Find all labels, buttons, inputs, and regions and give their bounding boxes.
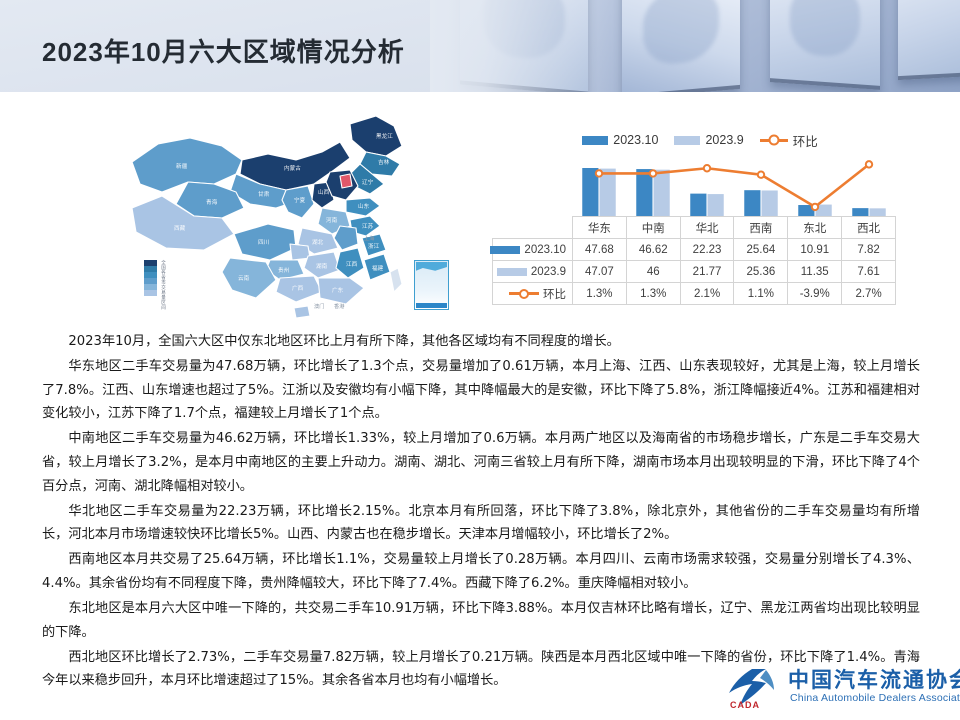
row-swatch-2023-10 <box>490 246 520 254</box>
map-label: 云南 <box>238 274 250 282</box>
map-label: 四川 <box>258 239 269 246</box>
paragraph: 华东地区二手车交易量为47.68万辆，环比增长了1.3个点，交易量增加了0.61… <box>42 355 920 426</box>
trend-marker <box>704 165 710 171</box>
table-cell: -3.9% <box>788 283 842 305</box>
cube-world-map-icon <box>643 0 719 67</box>
legend-line-huanbi <box>760 139 788 142</box>
trend-marker <box>812 204 818 210</box>
map-label: 贵州 <box>278 266 289 274</box>
table-row-2023-10: 2023.10 47.68 46.62 22.23 25.64 10.91 7.… <box>493 239 896 261</box>
logo-chinese-name: 中国汽车流通协会 <box>788 664 960 694</box>
region-bar-chart: 2023.10 2023.9 环比 华东 中南 华北 <box>492 128 896 326</box>
decorative-cube <box>898 0 960 80</box>
table-col-header: 西北 <box>842 217 896 239</box>
map-legend-scale <box>144 260 157 296</box>
article-body: 2023年10月，全国六大区中仅东北地区环比上月有所下降，其他各区域均有不同程度… <box>42 330 920 694</box>
legend-item-2023-10: 2023.10 <box>582 133 658 147</box>
south-china-sea-inset <box>414 260 449 310</box>
table-cell: 1.3% <box>626 283 680 305</box>
table-cell: 47.07 <box>573 261 627 283</box>
legend-swatch-2023-9 <box>674 136 700 145</box>
logo-english-name: China Automobile Dealers Association <box>790 692 960 704</box>
map-legend-caption: 全国各省市交易量区间 <box>161 260 166 310</box>
chart-plot-area <box>572 154 896 216</box>
map-label: 青海 <box>206 198 218 206</box>
map-label: 黑龙江 <box>376 132 393 140</box>
row-label-huanbi: 环比 <box>543 286 566 302</box>
bar-2023-9 <box>708 194 724 216</box>
map-label: 西藏 <box>174 224 186 232</box>
table-cell: 22.23 <box>680 239 734 261</box>
paragraph: 2023年10月，全国六大区中仅东北地区环比上月有所下降，其他各区域均有不同程度… <box>42 330 920 354</box>
bar-2023-9 <box>654 170 670 216</box>
table-header-row: 华东 中南 华北 西南 东北 西北 <box>493 217 896 239</box>
map-label: 浙江 <box>368 242 380 250</box>
page-title: 2023年10月六大区域情况分析 <box>42 32 405 69</box>
row-label-2023-9: 2023.9 <box>531 266 566 278</box>
table-cell: 2.7% <box>842 283 896 305</box>
legend-swatch-2023-10 <box>582 136 608 145</box>
trend-marker <box>596 170 602 176</box>
map-label: 吉林 <box>378 158 390 166</box>
map-label: 新疆 <box>176 162 188 170</box>
bar-2023-10 <box>744 190 760 216</box>
map-label: 福建 <box>372 264 384 272</box>
table-row-2023-9: 2023.9 47.07 46 21.77 25.36 11.35 7.61 <box>493 261 896 283</box>
map-label: 辽宁 <box>362 178 374 186</box>
row-label-2023-10: 2023.10 <box>524 244 566 256</box>
page-header: 2023年10月六大区域情况分析 <box>0 0 960 92</box>
map-label: 甘肃 <box>258 190 270 198</box>
table-col-header: 东北 <box>788 217 842 239</box>
table-cell: 1.1% <box>734 283 788 305</box>
table-row-header-2023-10: 2023.10 <box>493 239 573 261</box>
bar-2023-10 <box>690 194 706 216</box>
trend-marker <box>866 161 872 167</box>
map-legend: 全国各省市交易量区间 <box>144 260 166 310</box>
table-cell: 11.35 <box>788 261 842 283</box>
organization-logo: CADA 中国汽车流通协会 China Automobile Dealers A… <box>722 662 958 718</box>
map-label: 江西 <box>346 261 358 268</box>
legend-label-huanbi: 环比 <box>793 131 818 150</box>
table-row-huanbi: 环比 1.3% 1.3% 2.1% 1.1% -3.9% 2.7% <box>493 283 896 305</box>
chart-plot-svg <box>572 154 896 216</box>
bar-group <box>582 168 885 216</box>
map-label: 广东 <box>332 286 344 294</box>
map-label: 江苏 <box>362 222 374 230</box>
bar-2023-9 <box>762 190 778 216</box>
table-cell: 7.82 <box>842 239 896 261</box>
province-taiwan <box>390 268 402 292</box>
inset-landmass <box>416 262 447 273</box>
table-cell: 2.1% <box>680 283 734 305</box>
map-label: 湖南 <box>316 262 328 270</box>
table-col-header: 华东 <box>573 217 627 239</box>
paragraph: 中南地区二手车交易量为46.62万辆，环比增长1.33%，较上月增加了0.6万辆… <box>42 427 920 498</box>
table-row-header-2023-9: 2023.9 <box>493 261 573 283</box>
table-row-header-huanbi: 环比 <box>493 283 573 305</box>
map-label: 河南 <box>326 216 338 224</box>
map-label: 广西 <box>292 284 304 292</box>
map-label: 上海 <box>364 234 374 242</box>
table-cell: 10.91 <box>788 239 842 261</box>
trend-marker <box>650 170 656 176</box>
bar-2023-10 <box>852 208 868 216</box>
table-corner-cell <box>493 217 573 239</box>
legend-label-2023-10: 2023.10 <box>613 133 658 147</box>
bar-2023-9 <box>870 208 886 216</box>
legend-item-2023-9: 2023.9 <box>674 133 743 147</box>
paragraph: 西南地区本月共交易了25.64万辆，环比增长1.1%，交易量较上月增长了0.28… <box>42 548 920 595</box>
table-cell: 25.64 <box>734 239 788 261</box>
table-cell: 46 <box>626 261 680 283</box>
map-label: 湖北 <box>312 238 324 246</box>
logo-abbreviation: CADA <box>730 700 760 710</box>
table-col-header: 西南 <box>734 217 788 239</box>
china-map: 新疆 内蒙古 黑龙江 吉林 辽宁 甘肃 青海 西藏 宁夏 山西 山东 河南 江苏… <box>118 112 468 330</box>
chart-data-table: 华东 中南 华北 西南 东北 西北 2023.10 47.68 46.62 22… <box>492 216 896 305</box>
table-cell: 46.62 <box>626 239 680 261</box>
row-swatch-2023-9 <box>497 268 527 276</box>
header-gradient-overlay <box>430 0 610 92</box>
map-label: 山东 <box>358 202 370 210</box>
paragraph: 华北地区二手车交易量为22.23万辆，环比增长2.15%。北京本月有所回落，环比… <box>42 500 920 547</box>
table-cell: 7.61 <box>842 261 896 283</box>
table-cell: 25.36 <box>734 261 788 283</box>
map-label: 澳门 <box>314 302 324 310</box>
chart-legend: 2023.10 2023.9 环比 <box>504 128 896 152</box>
table-cell: 21.77 <box>680 261 734 283</box>
trend-marker <box>758 171 764 177</box>
map-label: 香港 <box>334 302 345 310</box>
table-col-header: 中南 <box>626 217 680 239</box>
province-hainan <box>294 306 310 318</box>
legend-label-2023-9: 2023.9 <box>705 133 743 147</box>
row-line-huanbi <box>509 292 539 295</box>
decorative-cube <box>622 0 740 92</box>
map-label: 内蒙古 <box>284 164 301 172</box>
cube-world-map-icon <box>790 0 860 58</box>
legend-item-huanbi: 环比 <box>760 131 818 150</box>
table-cell: 47.68 <box>573 239 627 261</box>
paragraph: 东北地区是本月六大区中唯一下降的，共交易二手车10.91万辆，环比下降3.88%… <box>42 597 920 644</box>
map-label: 宁夏 <box>294 196 306 204</box>
map-label: 山西 <box>318 188 330 196</box>
province-beijing-highlight <box>340 174 352 188</box>
table-cell: 1.3% <box>573 283 627 305</box>
decorative-cube <box>770 0 880 90</box>
table-col-header: 华北 <box>680 217 734 239</box>
